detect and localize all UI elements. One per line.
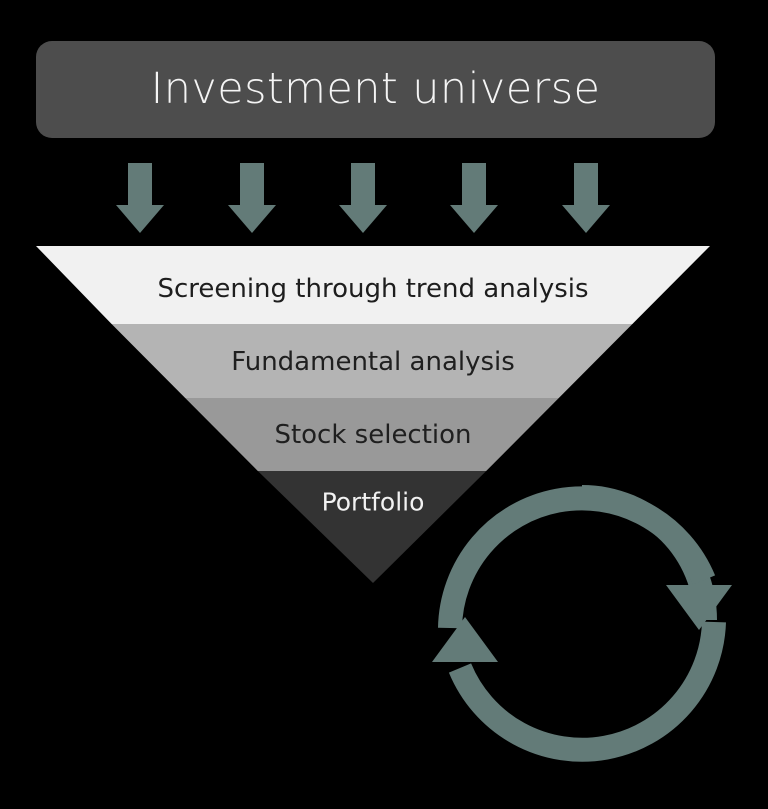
funnel-band-label-fundamental: Fundamental analysis — [0, 349, 757, 375]
down-arrow-icon — [116, 163, 164, 233]
inflow-arrow-row — [0, 163, 768, 233]
investment-universe-header: Investment universe — [36, 41, 715, 138]
diagram-canvas: Investment universe — [0, 0, 768, 809]
down-arrow-icon — [339, 163, 387, 233]
circular-refresh-icon — [432, 470, 732, 775]
down-arrow-icon — [450, 163, 498, 233]
funnel-band-label-screening: Screening through trend analysis — [0, 276, 757, 302]
funnel-band-label-stock-selection: Stock selection — [0, 422, 757, 448]
down-arrow-icon — [562, 163, 610, 233]
down-arrow-icon — [228, 163, 276, 233]
page-title: Investment universe — [151, 68, 601, 111]
